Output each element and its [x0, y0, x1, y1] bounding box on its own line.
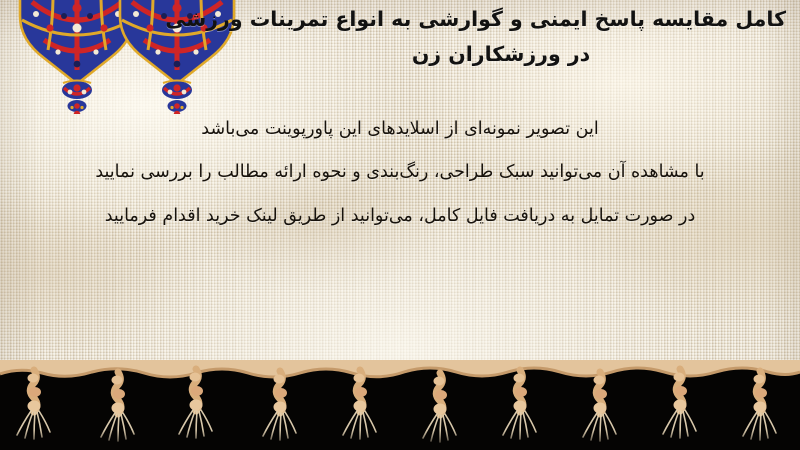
slide-body-text: این تصویر نمونه‌ای از اسلایدهای این پاور…: [0, 108, 800, 238]
slide-title-line-1: کامل مقایسه پاسخ ایمنی و گوارشی به انواع…: [216, 2, 786, 37]
slide-body-line-2: با مشاهده آن می‌توانید سبک طراحی، رنگ‌بن…: [0, 151, 800, 194]
presentation-slide: کامل مقایسه پاسخ ایمنی و گوارشی به انواع…: [0, 0, 800, 450]
slide-body-line-3: در صورت تمایل به دریافت فایل کامل، می‌تو…: [0, 195, 800, 238]
slide-body-line-1: این تصویر نمونه‌ای از اسلایدهای این پاور…: [0, 108, 800, 151]
carpet-fringe-band: [0, 360, 800, 450]
slide-title: کامل مقایسه پاسخ ایمنی و گوارشی به انواع…: [216, 2, 786, 73]
slide-title-line-2: در ورزشکاران زن: [216, 37, 786, 72]
